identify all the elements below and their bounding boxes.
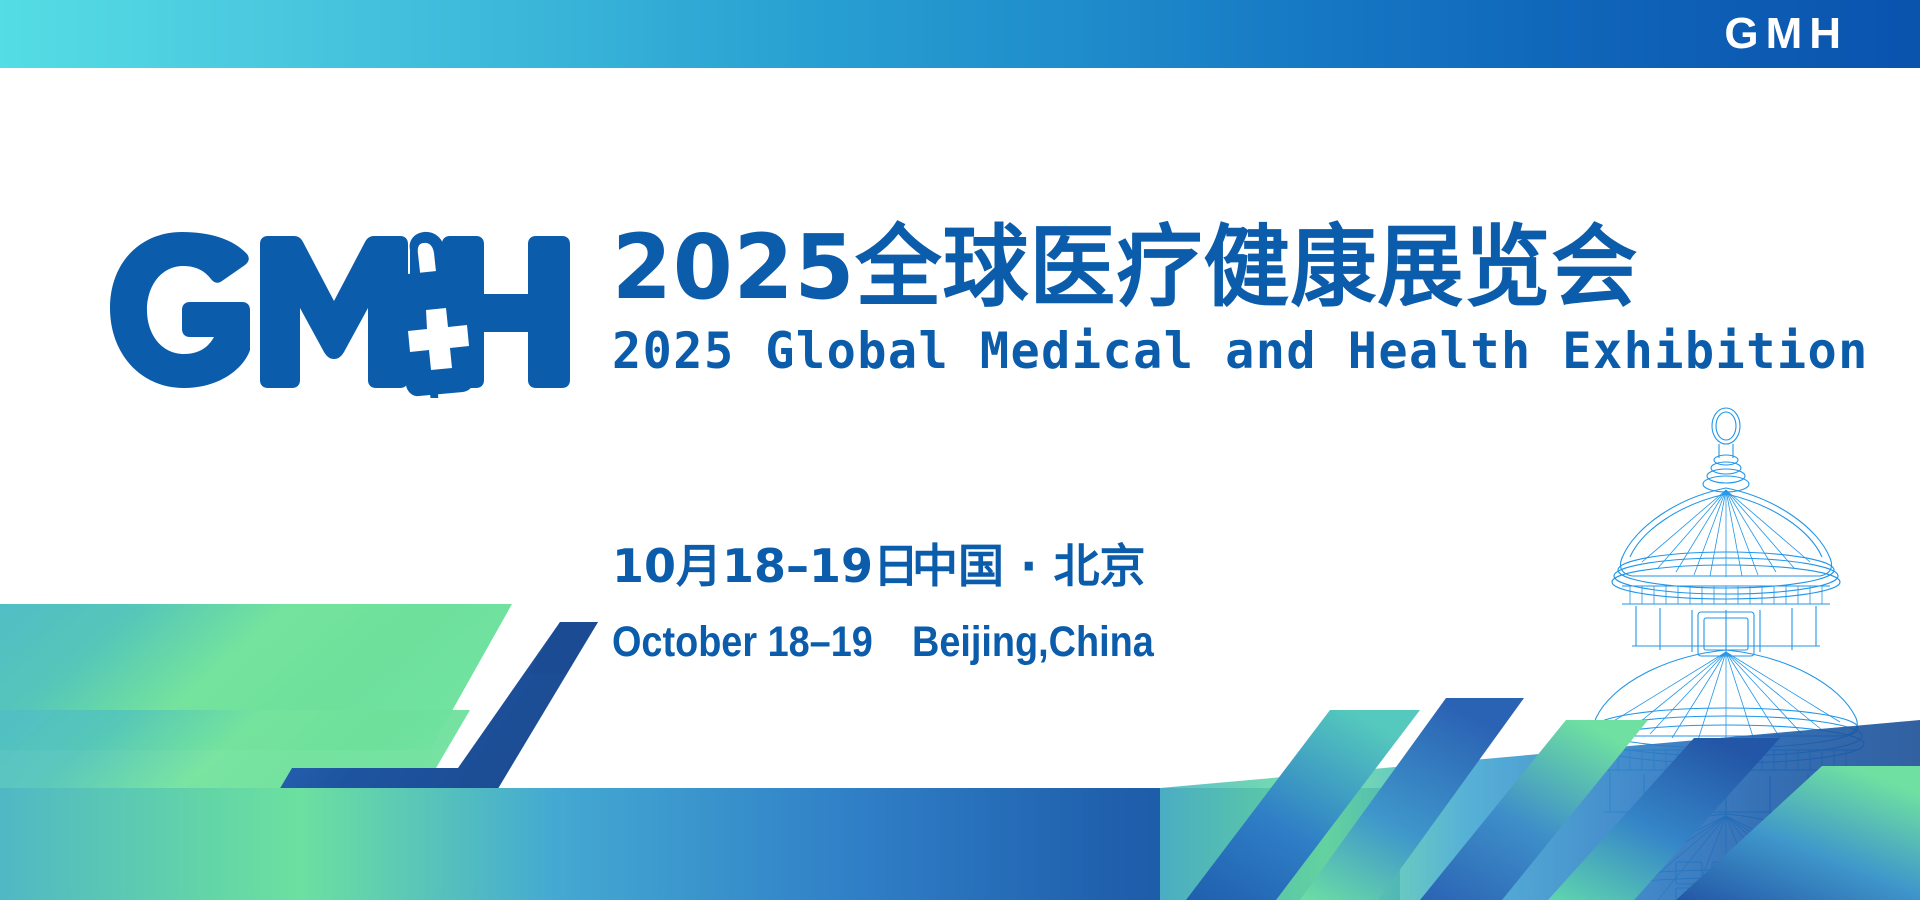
- deco-green-slab: [0, 604, 512, 850]
- event-date-english: October 18–19: [612, 616, 876, 668]
- gmh-logo: [108, 228, 578, 398]
- event-details: 10月18–19日 中国 · 北京 October 18–19 Beijing,…: [612, 538, 1432, 668]
- details-row-chinese: 10月18–19日 中国 · 北京: [612, 538, 1432, 594]
- event-location-chinese: 中国 · 北京: [912, 538, 1332, 594]
- topbar-brand-label: GMH: [1724, 4, 1848, 64]
- logo-letter-g: [110, 232, 250, 388]
- logo-letter-m: [260, 236, 408, 388]
- event-banner: GMH 2025全球医疗健康展览会 2025 Global Medic: [0, 0, 1920, 900]
- event-location-english: Beijing,China: [912, 616, 1282, 668]
- logo-tube-icon: [430, 394, 440, 398]
- gmh-logo-svg: [108, 228, 578, 398]
- deco-blue-chevron: [272, 622, 598, 802]
- deco-bottom-bar: [0, 720, 1920, 900]
- temple-of-heaven-icon: [1526, 400, 1920, 900]
- deco-ribbons: [1186, 698, 1920, 900]
- title-english: 2025 Global Medical and Health Exhibitio…: [612, 322, 1825, 380]
- details-row-english: October 18–19 Beijing,China: [612, 616, 1432, 668]
- event-date-chinese: 10月18–19日: [612, 538, 912, 594]
- temple-of-heaven-svg: [1526, 400, 1920, 900]
- title-chinese: 2025全球医疗健康展览会: [612, 218, 1862, 318]
- title-block: 2025全球医疗健康展览会 2025 Global Medical and He…: [612, 218, 1862, 380]
- top-gradient-bar: GMH: [0, 0, 1920, 68]
